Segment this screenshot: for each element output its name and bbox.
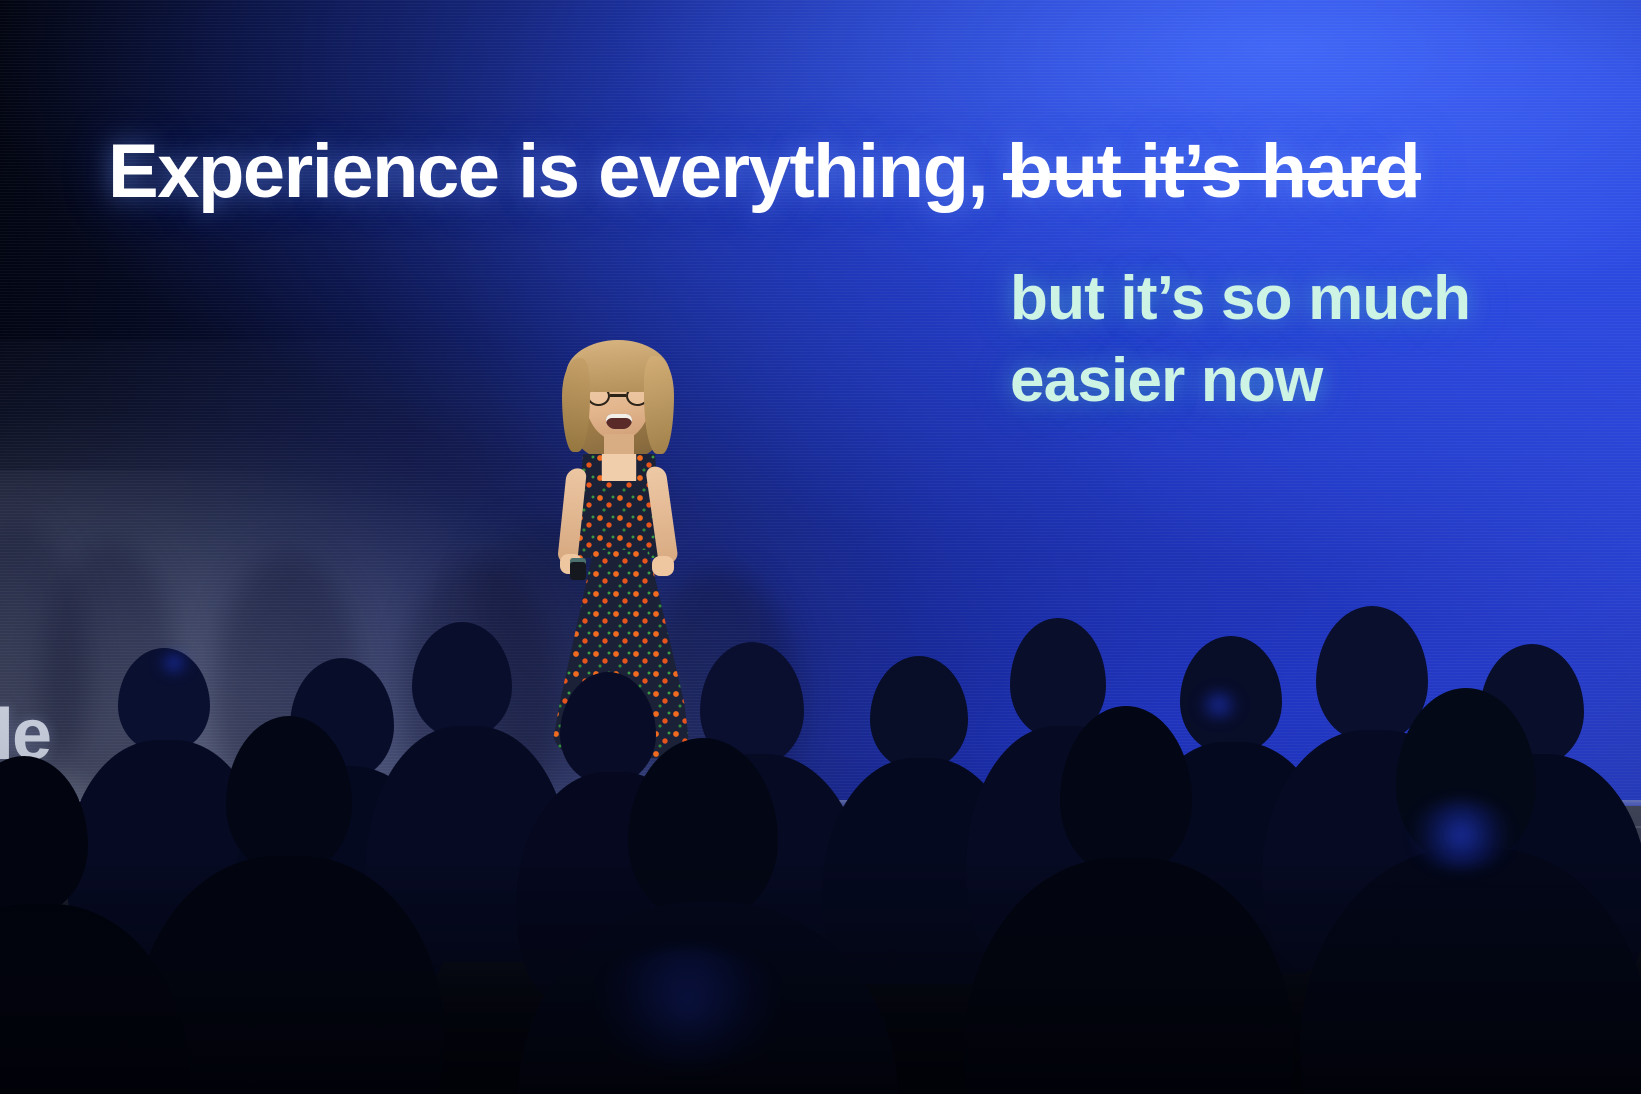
slide-headline-plain: Experience is everything, — [108, 129, 987, 214]
speaker-mouth — [606, 414, 632, 429]
speaker-hair-left — [562, 358, 590, 452]
slide-subhead-line-2: easier now — [1010, 346, 1322, 415]
slide-subhead-line-1: but it’s so much — [1010, 264, 1470, 333]
slide-headline-struck: but it’s hard — [1007, 128, 1420, 215]
stage-scene: Experience is everything, but it’s hard … — [0, 0, 1641, 1094]
speaker-hair-right — [644, 356, 674, 454]
slide-subhead: but it’s so mucheasier now — [1010, 258, 1470, 422]
slide-headline: Experience is everything, but it’s hard — [108, 128, 1419, 215]
audience-silhouettes — [0, 560, 1641, 1094]
